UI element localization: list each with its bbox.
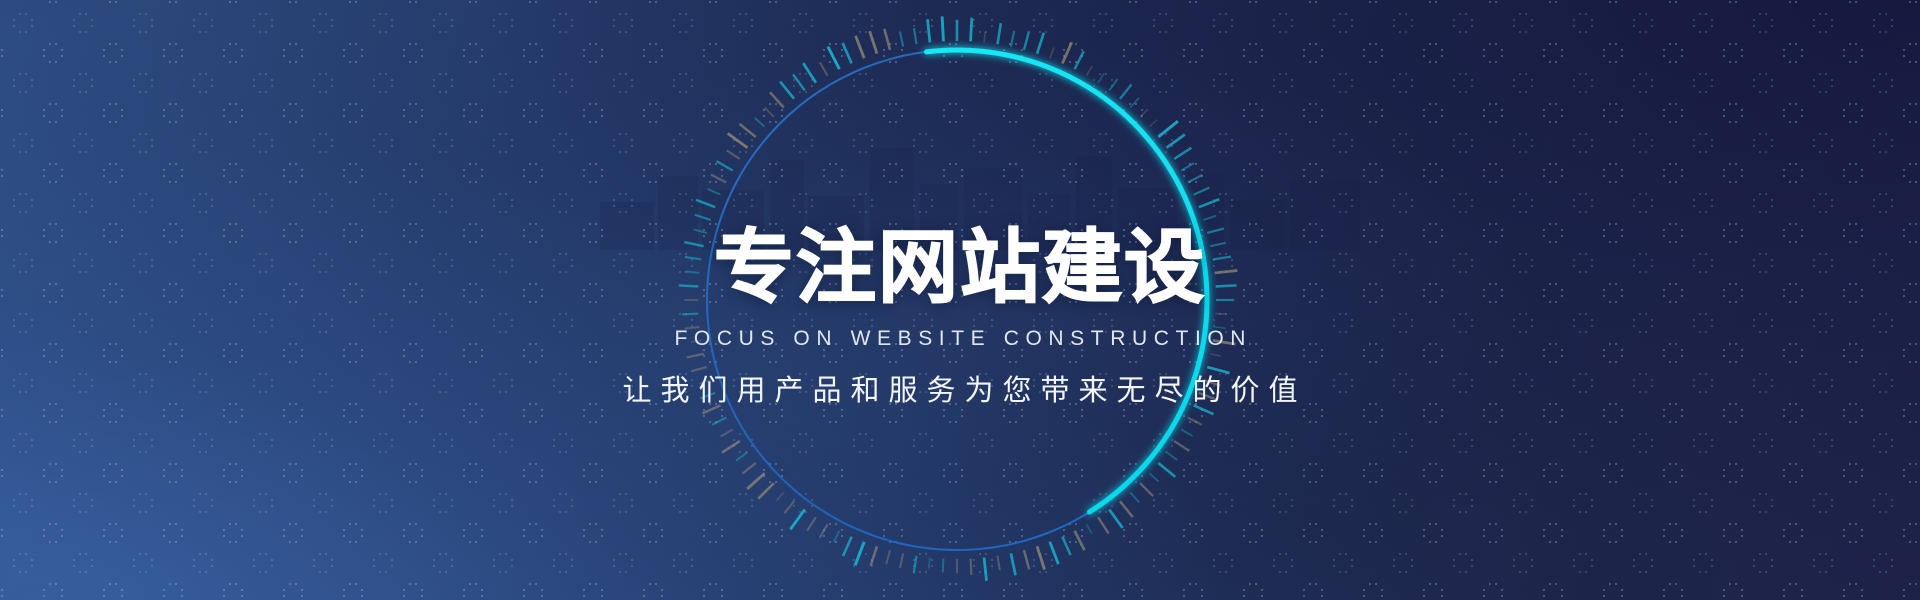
hero-banner: 专注网站建设 FOCUS ON WEBSITE CONSTRUCTION 让我们… xyxy=(0,0,1920,600)
banner-subheadline: FOCUS ON WEBSITE CONSTRUCTION xyxy=(668,328,1252,349)
banner-text-block: 专注网站建设 FOCUS ON WEBSITE CONSTRUCTION 让我们… xyxy=(0,0,1920,600)
banner-tagline: 让我们用产品和服务为您带来无尽的价值 xyxy=(613,375,1306,407)
banner-headline: 专注网站建设 xyxy=(714,228,1206,308)
